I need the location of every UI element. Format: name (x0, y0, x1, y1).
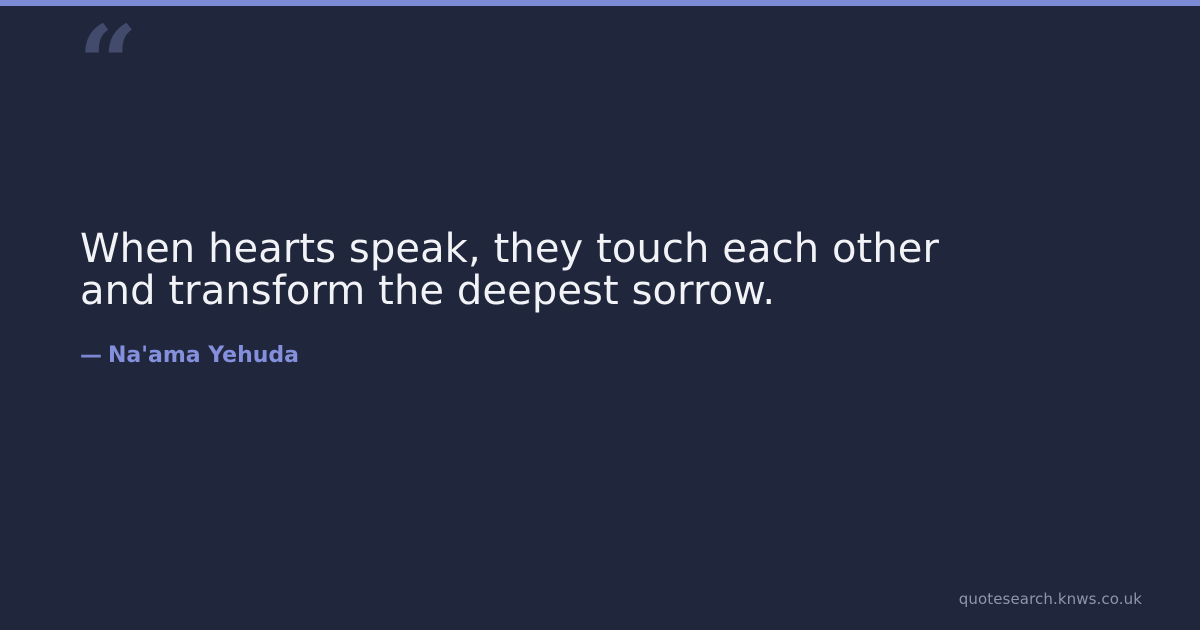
quote-attribution: —Na'ama Yehuda (80, 312, 1080, 369)
attribution-dash: — (80, 343, 108, 368)
top-accent-bar (0, 0, 1200, 6)
site-watermark: quotesearch.knws.co.uk (959, 590, 1142, 608)
quote-text: When hearts speak, they touch each other… (80, 228, 980, 312)
quote-content: When hearts speak, they touch each other… (80, 228, 1080, 369)
quote-card: “ When hearts speak, they touch each oth… (0, 0, 1200, 630)
open-quote-icon: “ (78, 12, 136, 116)
attribution-author: Na'ama Yehuda (108, 343, 299, 368)
